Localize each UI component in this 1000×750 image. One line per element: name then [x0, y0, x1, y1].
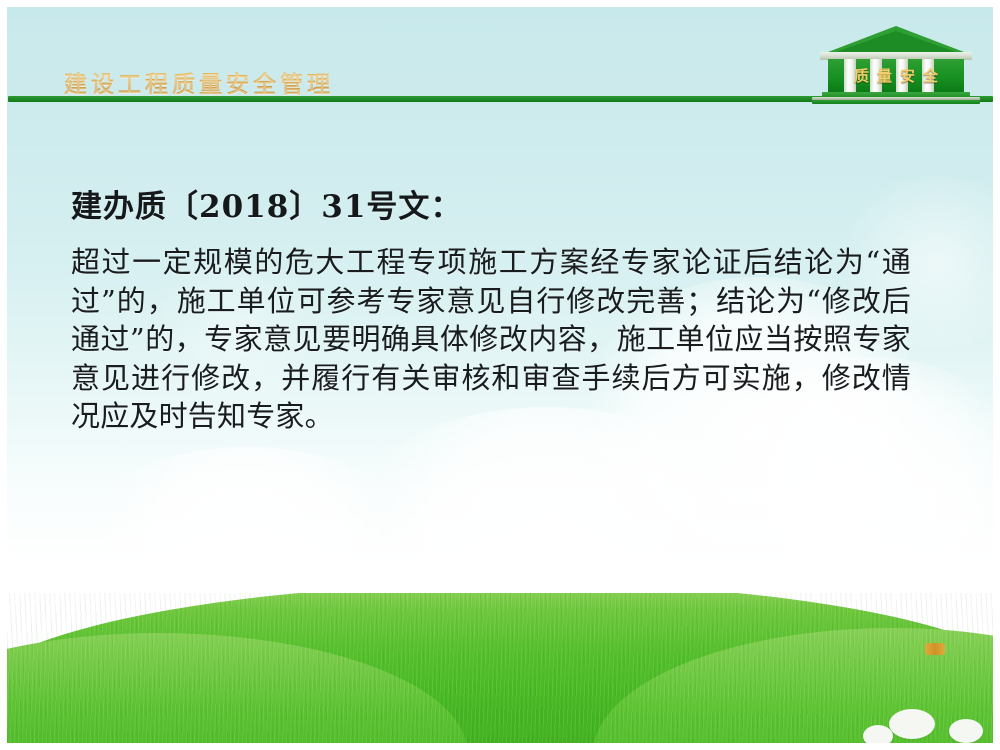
- document-paragraph: 超过一定规模的危大工程专项施工方案经专家论证后结论为“通过”的，施工单位可参考专…: [71, 243, 911, 436]
- document-heading: 建办质〔2018〕31号文：: [71, 185, 911, 229]
- sheep-icon: [889, 709, 935, 739]
- temple-base-lower-icon: [812, 97, 980, 104]
- flower-icon: [925, 643, 945, 655]
- page-title: 建设工程质量安全管理: [64, 65, 334, 99]
- slide-header: 建设工程质量安全管理 质量安全: [7, 7, 993, 112]
- slide-content: 建办质〔2018〕31号文： 超过一定规模的危大工程专项施工方案经专家论证后结论…: [71, 185, 911, 436]
- sheep-icon: [863, 725, 893, 743]
- slide: 建设工程质量安全管理 质量安全 建办质〔2018〕31号文： 超过一定规模的危大…: [0, 0, 1000, 750]
- temple-pediment-inner-icon: [836, 31, 956, 52]
- logo-label: 质量安全: [828, 65, 964, 86]
- grass-field: [7, 593, 993, 743]
- grass-texture: [7, 593, 993, 743]
- slide-canvas: 建设工程质量安全管理 质量安全 建办质〔2018〕31号文： 超过一定规模的危大…: [7, 7, 993, 743]
- sheep-icon: [949, 719, 983, 743]
- quality-safety-logo: 质量安全: [806, 26, 986, 104]
